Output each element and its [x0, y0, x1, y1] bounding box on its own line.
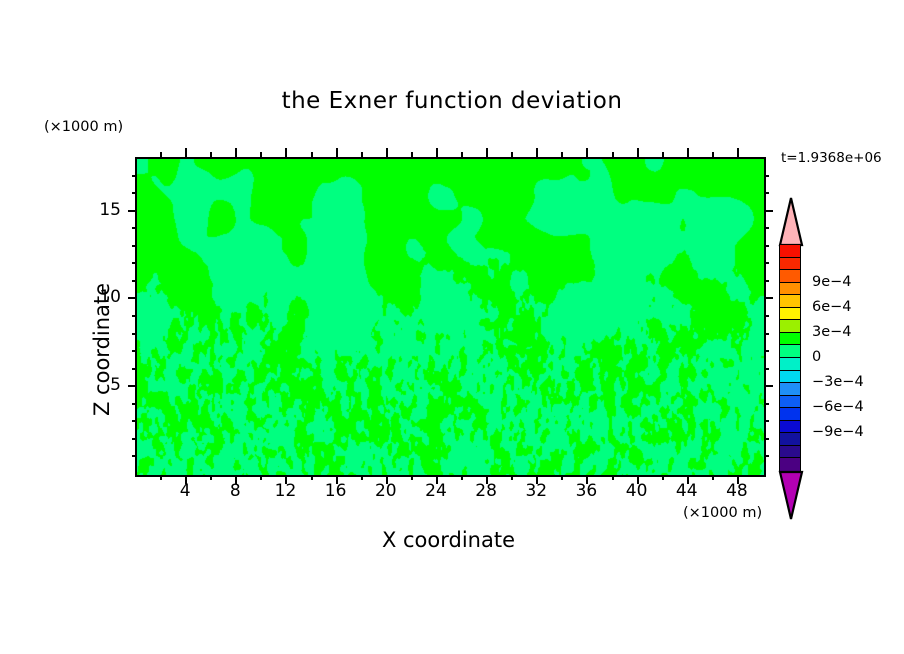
y-axis-tick: [764, 262, 769, 264]
x-axis-tick: [687, 148, 689, 157]
y-axis-tick-label: 15: [73, 200, 121, 220]
y-axis-tick: [132, 245, 137, 247]
y-axis-tick: [132, 350, 137, 352]
x-axis-tick: [411, 475, 413, 480]
x-axis-tick: [361, 152, 363, 157]
x-axis-tick: [662, 152, 664, 157]
x-axis-tick-label: 32: [525, 481, 547, 501]
x-axis-tick: [737, 148, 739, 157]
x-axis-tick: [662, 475, 664, 480]
x-axis-tick: [311, 475, 313, 480]
x-axis-tick: [386, 148, 388, 157]
colorbar: [777, 196, 805, 518]
y-axis-tick: [764, 455, 769, 457]
colorbar-tick-label: −9e−4: [812, 424, 864, 440]
y-axis-tick: [764, 350, 769, 352]
x-axis-tick: [511, 152, 513, 157]
y-axis-tick: [764, 420, 769, 422]
x-axis-tick-label: 12: [275, 481, 297, 501]
y-axis-tick: [764, 333, 769, 335]
x-axis-tick-label: 44: [676, 481, 698, 501]
y-axis-tick: [132, 455, 137, 457]
x-axis-title: X coordinate: [135, 528, 762, 552]
colorbar-under-arrow: [777, 470, 805, 522]
x-axis-tick: [210, 152, 212, 157]
x-axis-tick-label: 36: [576, 481, 598, 501]
x-axis-tick: [612, 475, 614, 480]
y-axis-tick: [132, 420, 137, 422]
x-axis-tick: [612, 152, 614, 157]
y-axis-tick: [132, 403, 137, 405]
x-axis-tick: [486, 148, 488, 157]
x-axis-tick-label: 48: [726, 481, 748, 501]
x-axis-tick: [235, 148, 237, 157]
y-axis-tick: [132, 368, 137, 370]
colorbar-tick-label: 6e−4: [812, 299, 852, 315]
colorbar-tick-label: −3e−4: [812, 374, 864, 390]
x-axis-tick-label: 8: [230, 481, 241, 501]
x-axis-tick: [436, 148, 438, 157]
y-axis-tick-label: 5: [73, 375, 121, 395]
y-axis-tick: [132, 333, 137, 335]
x-axis-tick: [561, 475, 563, 480]
y-axis-tick: [132, 262, 137, 264]
x-axis-tick: [361, 475, 363, 480]
x-axis-tick: [561, 152, 563, 157]
x-axis-tick: [461, 475, 463, 480]
colorbar-tick-label: 3e−4: [812, 324, 852, 340]
x-axis-tick: [511, 475, 513, 480]
plot-area: [135, 157, 766, 477]
x-axis-tick: [160, 152, 162, 157]
x-axis-tick: [210, 475, 212, 480]
y-axis-tick: [128, 385, 137, 387]
x-axis-tick: [536, 148, 538, 157]
y-axis-tick: [128, 210, 137, 212]
y-axis-tick: [764, 438, 769, 440]
x-axis-tick-label: 28: [475, 481, 497, 501]
x-axis-tick: [311, 152, 313, 157]
y-axis-tick-label: 10: [73, 287, 121, 307]
x-axis-tick: [712, 152, 714, 157]
y-axis-tick: [132, 315, 137, 317]
x-axis-tick-label: 4: [180, 481, 191, 501]
y-axis-tick: [764, 385, 773, 387]
y-axis-tick: [764, 210, 773, 212]
x-axis-tick-label: 20: [375, 481, 397, 501]
x-axis-tick: [411, 152, 413, 157]
x-axis-tick-label: 16: [325, 481, 347, 501]
x-axis-tick: [285, 148, 287, 157]
x-axis-tick: [160, 475, 162, 480]
colorbar-tick-label: −6e−4: [812, 399, 864, 415]
y-axis-tick: [764, 403, 769, 405]
y-axis-tick: [764, 280, 769, 282]
horizontal-axis-units-label: (×1000 m): [683, 505, 762, 521]
y-axis-tick: [128, 297, 137, 299]
colorbar-tick-label: 0: [812, 349, 821, 365]
y-axis-tick: [132, 192, 137, 194]
x-axis-tick: [586, 148, 588, 157]
timestamp-annotation: t=1.9368e+06: [781, 150, 882, 166]
y-axis-tick: [764, 297, 773, 299]
x-axis-tick: [637, 148, 639, 157]
x-axis-tick-label: 24: [425, 481, 447, 501]
y-axis-tick: [132, 438, 137, 440]
x-axis-tick: [260, 475, 262, 480]
figure-root: the Exner function deviation (×1000 m) (…: [0, 0, 904, 654]
y-axis-tick: [764, 227, 769, 229]
vertical-axis-units-label: (×1000 m): [44, 119, 123, 135]
y-axis-tick: [764, 368, 769, 370]
colorbar-tick-label: 9e−4: [812, 274, 852, 290]
x-axis-tick: [185, 148, 187, 157]
contour-field-canvas: [137, 159, 764, 475]
colorbar-over-arrow: [777, 196, 805, 248]
x-axis-tick: [461, 152, 463, 157]
x-axis-tick: [336, 148, 338, 157]
x-axis-tick: [712, 475, 714, 480]
page-title: the Exner function deviation: [0, 88, 904, 114]
x-axis-tick: [260, 152, 262, 157]
y-axis-tick: [132, 227, 137, 229]
x-axis-tick-label: 40: [626, 481, 648, 501]
y-axis-tick: [132, 280, 137, 282]
y-axis-tick: [132, 175, 137, 177]
y-axis-tick: [764, 245, 769, 247]
y-axis-tick: [764, 175, 769, 177]
y-axis-tick: [764, 315, 769, 317]
y-axis-tick: [764, 192, 769, 194]
